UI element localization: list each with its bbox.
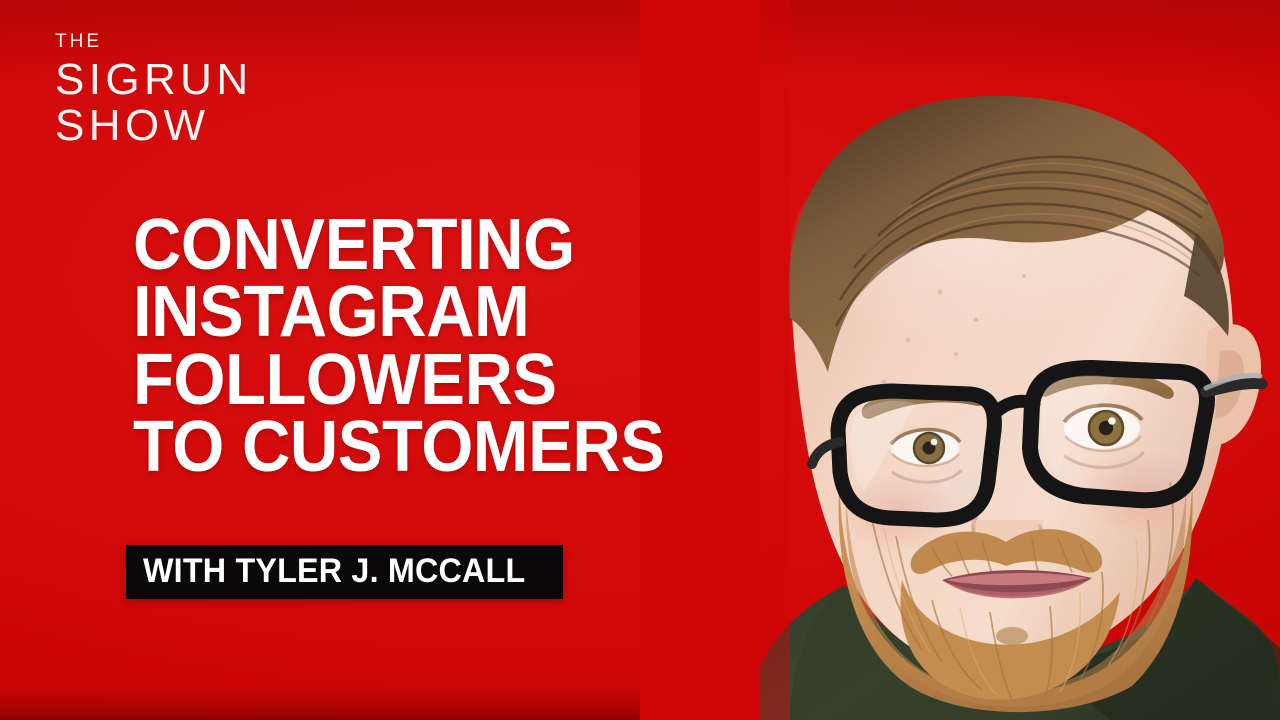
logo-line-the: THE: [55, 32, 253, 51]
thumbnail-canvas: THE SIGRUN SHOW CONVERTING INSTAGRAM FOL…: [0, 0, 1280, 720]
title-line-2: INSTAGRAM: [133, 279, 664, 346]
logo-line-show: SHOW: [55, 104, 253, 148]
title-line-4: TO CUSTOMERS: [133, 414, 664, 481]
title-line-3: FOLLOWERS: [133, 347, 664, 414]
logo-line-sigrun: SIGRUN: [55, 58, 253, 102]
guest-name-bar: WITH TYLER J. MCCALL: [126, 545, 563, 599]
show-logo: THE SIGRUN SHOW: [55, 32, 253, 148]
guest-name-label: WITH TYLER J. MCCALL: [143, 554, 525, 588]
title-line-1: CONVERTING: [133, 212, 664, 279]
episode-title: CONVERTING INSTAGRAM FOLLOWERS TO CUSTOM…: [133, 212, 664, 481]
guest-portrait-photo: [640, 0, 1280, 720]
